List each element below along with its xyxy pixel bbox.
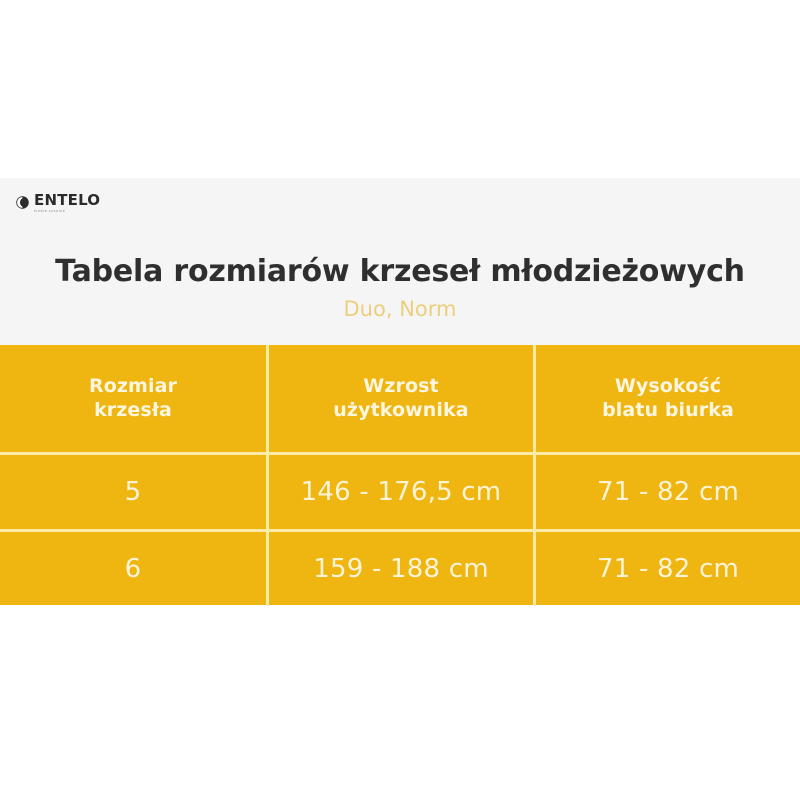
brand-tagline: meble szkolne — [34, 210, 100, 214]
header-line-1: Rozmiar — [89, 375, 177, 397]
header-line-2: blatu biurka — [602, 399, 734, 421]
header-label-desk: Wysokość blatu biurka — [602, 375, 734, 421]
header-line-2: użytkownika — [333, 399, 468, 421]
cell-value: 71 - 82 cm — [597, 477, 739, 507]
header-line-2: krzesła — [94, 399, 172, 421]
brand-logo: ENTELO meble szkolne — [16, 193, 100, 213]
table-cell-height: 159 - 188 cm — [266, 532, 533, 606]
table-cell-desk: 71 - 82 cm — [533, 455, 800, 529]
size-table: Rozmiar krzesła Wzrost użytkownika Wysok… — [0, 345, 800, 605]
table-cell-size: 5 — [0, 455, 266, 529]
brand-text: ENTELO meble szkolne — [34, 193, 100, 213]
entelo-leaf-icon — [16, 196, 29, 209]
table-header-row: Rozmiar krzesła Wzrost użytkownika Wysok… — [0, 345, 800, 452]
cell-value: 71 - 82 cm — [597, 554, 739, 584]
table-cell-height: 146 - 176,5 cm — [266, 455, 533, 529]
header-line-1: Wzrost — [363, 375, 438, 397]
table-cell-desk: 71 - 82 cm — [533, 532, 800, 606]
table-header-cell-height: Wzrost użytkownika — [266, 345, 533, 452]
header-label-size: Rozmiar krzesła — [89, 375, 177, 421]
header-line-1: Wysokość — [615, 375, 721, 397]
cell-value: 5 — [125, 477, 142, 507]
page-title: Tabela rozmiarów krzeseł młodzieżowych — [0, 254, 800, 289]
table-cell-size: 6 — [0, 532, 266, 606]
header-label-height: Wzrost użytkownika — [333, 375, 468, 421]
table-header-cell-desk: Wysokość blatu biurka — [533, 345, 800, 452]
table-row: 5 146 - 176,5 cm 71 - 82 cm — [0, 452, 800, 529]
brand-name: ENTELO — [34, 193, 100, 208]
table-header-cell-size: Rozmiar krzesła — [0, 345, 266, 452]
cell-value: 146 - 176,5 cm — [301, 477, 502, 507]
size-chart-page: ENTELO meble szkolne Tabela rozmiarów kr… — [0, 0, 800, 800]
cell-value: 159 - 188 cm — [313, 554, 488, 584]
cell-value: 6 — [125, 554, 142, 584]
page-subtitle: Duo, Norm — [0, 297, 800, 321]
table-row: 6 159 - 188 cm 71 - 82 cm — [0, 529, 800, 606]
